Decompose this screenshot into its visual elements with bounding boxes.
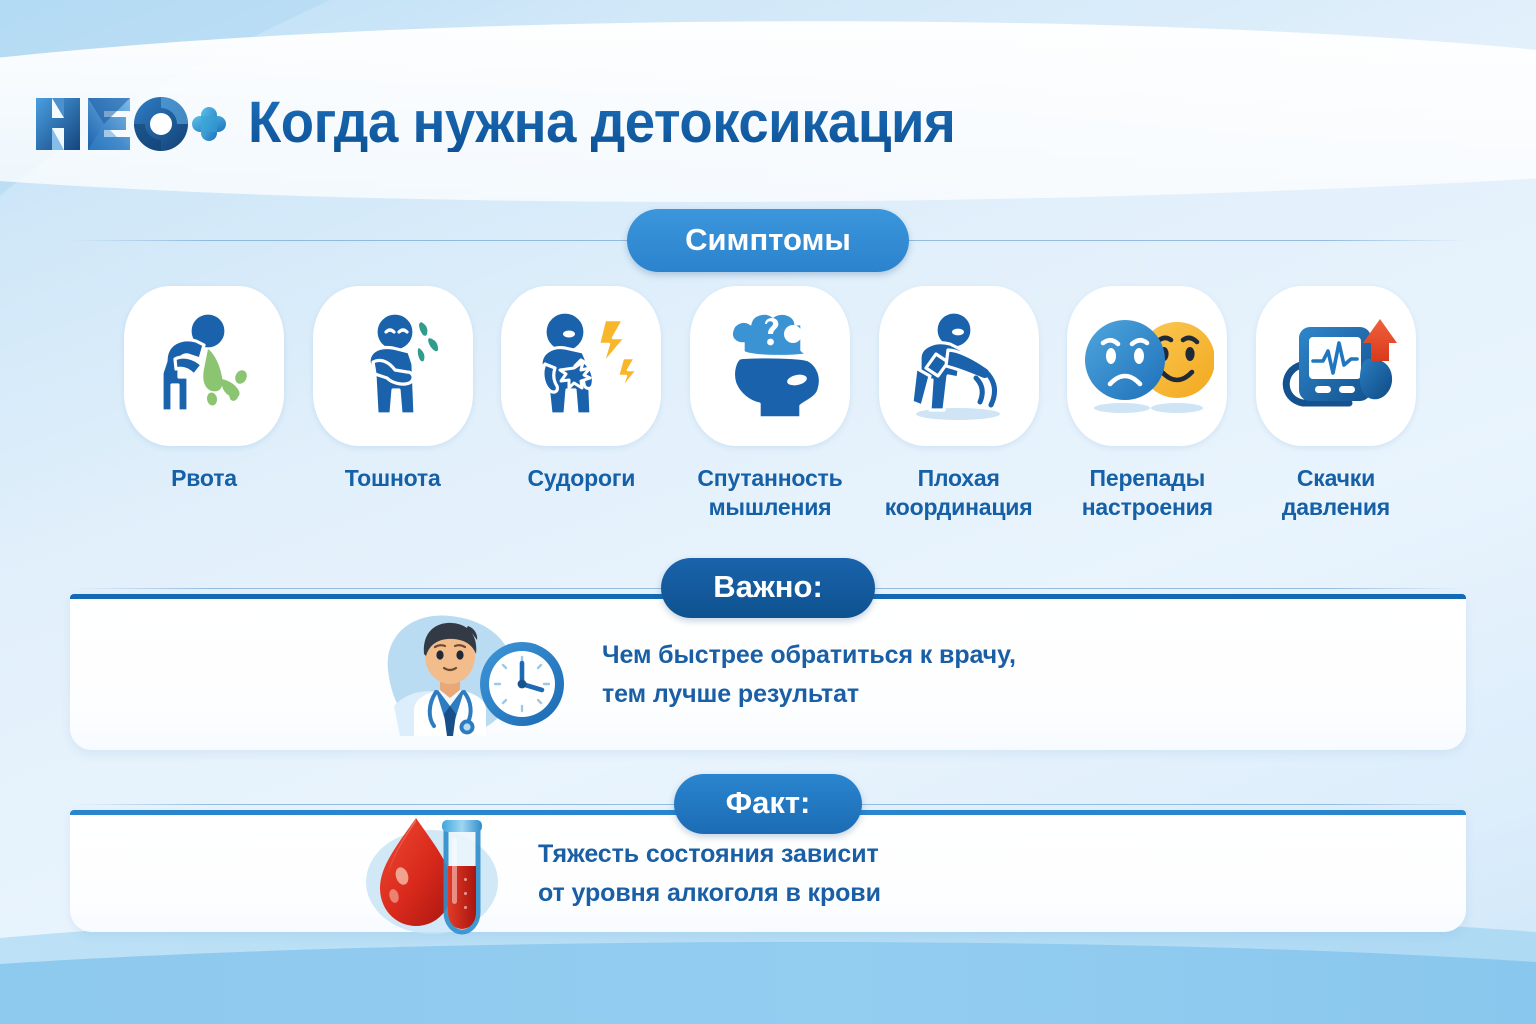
cramps-person-icon [519, 306, 643, 426]
symptoms-list: Рвота Тошнота [120, 286, 1420, 522]
symptom-card [1256, 286, 1416, 446]
symptom-item-vomiting[interactable]: Рвота [120, 286, 288, 522]
important-text-line2: тем лучше результат [602, 675, 1016, 714]
confused-head-icon [705, 306, 835, 426]
poor-coordination-icon [896, 306, 1022, 426]
important-text-line1: Чем быстрее обратиться к врачу, [602, 636, 1016, 675]
page-header: Когда нужна детоксикация [0, 78, 1536, 168]
fact-text: Тяжесть состояния зависит от уровня алко… [538, 835, 881, 913]
fact-badge: Факт: [674, 774, 863, 834]
symptom-item-mood-swings[interactable]: Перепады настроения [1063, 286, 1231, 522]
symptom-item-coordination[interactable]: Плохая координация [875, 286, 1043, 522]
fact-text-line1: Тяжесть состояния зависит [538, 835, 881, 874]
vomiting-person-icon [142, 307, 266, 425]
page-title: Когда нужна детоксикация [248, 94, 955, 152]
doctor-with-clock-icon [370, 610, 580, 740]
important-text: Чем быстрее обратиться к врачу, тем лучш… [602, 636, 1016, 714]
symptom-label: Плохая координация [885, 464, 1033, 522]
symptom-label-line2: давления [1282, 494, 1390, 520]
fact-text-line2: от уровня алкоголя в крови [538, 874, 881, 913]
symptom-label-line1: Скачки [1297, 465, 1375, 491]
symptom-label-line1: Перепады [1090, 465, 1206, 491]
symptom-label-line2: настроения [1082, 494, 1213, 520]
symptom-label: Перепады настроения [1082, 464, 1213, 522]
symptom-label: Рвота [171, 464, 237, 493]
symptom-card [879, 286, 1039, 446]
symptom-card [501, 286, 661, 446]
symptoms-section-heading: Симптомы [70, 212, 1466, 268]
important-card-body: Чем быстрее обратиться к врачу, тем лучш… [70, 599, 1466, 750]
symptom-item-confusion[interactable]: Спутанность мышления [686, 286, 854, 522]
symptom-label: Спутанность мышления [697, 464, 842, 522]
neo-plus-logo[interactable] [34, 92, 226, 154]
symptom-label-line2: мышления [709, 494, 832, 520]
fact-section-heading: Факт: [70, 776, 1466, 832]
symptom-item-blood-pressure[interactable]: Скачки давления [1252, 286, 1420, 522]
symptom-card [1067, 286, 1227, 446]
symptom-label: Скачки давления [1282, 464, 1390, 522]
mood-swings-faces-icon [1080, 310, 1214, 422]
symptom-card [124, 286, 284, 446]
symptoms-badge: Симптомы [627, 209, 909, 272]
symptom-item-nausea[interactable]: Тошнота [309, 286, 477, 522]
nausea-person-icon [335, 306, 451, 426]
symptom-label: Судороги [527, 464, 635, 493]
symptom-card [690, 286, 850, 446]
symptom-label-line2: координация [885, 494, 1033, 520]
symptom-label: Тошнота [345, 464, 441, 493]
symptom-label-line1: Спутанность [697, 465, 842, 491]
symptom-item-cramps[interactable]: Судороги [497, 286, 665, 522]
symptom-card [313, 286, 473, 446]
blood-pressure-monitor-icon [1273, 307, 1399, 425]
important-section-heading: Важно: [70, 560, 1466, 616]
symptom-label-line1: Плохая [918, 465, 1000, 491]
important-badge: Важно: [661, 558, 875, 618]
